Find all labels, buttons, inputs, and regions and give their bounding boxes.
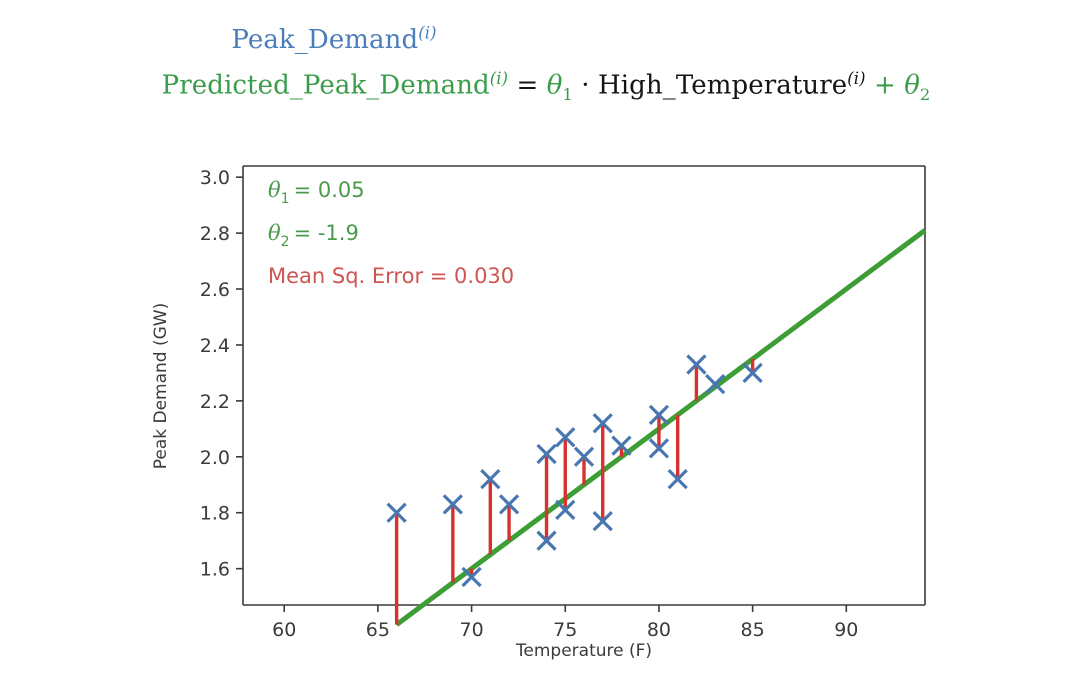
mse-annotation: Mean Sq. Error = 0.030 <box>268 264 514 288</box>
peak-demand-superscript: (i) <box>418 23 436 42</box>
x-axis-label: Temperature (F) <box>515 641 652 661</box>
equation-line-main: Predicted_Peak_Demand(i) = θ1 · High_Tem… <box>0 59 1092 115</box>
theta2-annotation: θ2= -1.9 <box>268 221 359 250</box>
regression-line-group <box>397 230 925 624</box>
y-tick-label: 1.8 <box>200 503 230 525</box>
theta2-subscript: 2 <box>920 85 930 104</box>
x-tick-label: 80 <box>647 619 671 641</box>
y-tick-label: 2.4 <box>200 335 230 357</box>
parameter-annotations: θ1= 0.05 θ2= -1.9 Mean Sq. Error = 0.030 <box>268 178 514 288</box>
predicted-peak-demand-term: Predicted_Peak_Demand <box>162 70 490 100</box>
data-point-markers-group <box>388 356 762 587</box>
equation-line-numerator: Peak_Demand(i) <box>0 14 1092 59</box>
scatter-regression-chart: 1.61.82.02.22.42.62.83.0 60657075808590 … <box>0 130 1092 684</box>
figure-root: Peak_Demand(i) Predicted_Peak_Demand(i) … <box>0 0 1092 684</box>
title-equation: Peak_Demand(i) Predicted_Peak_Demand(i) … <box>0 14 1092 115</box>
y-tick-label: 2.6 <box>200 279 230 301</box>
y-tick-label: 2.0 <box>200 447 230 469</box>
chart-plot-area: 1.61.82.02.22.42.62.83.0 60657075808590 … <box>0 130 1092 684</box>
y-tick-label: 2.2 <box>200 391 230 413</box>
x-tick-label: 75 <box>553 619 577 641</box>
equals-sign: = <box>516 70 538 100</box>
x-tick-label: 70 <box>459 619 483 641</box>
multiplication-dot: · <box>581 70 589 100</box>
theta2-annot-value: = -1.9 <box>294 221 359 245</box>
x-tick-label: 85 <box>741 619 765 641</box>
y-axis-ticks: 1.61.82.02.22.42.62.83.0 <box>200 167 243 580</box>
x-axis-ticks: 60657075808590 <box>272 605 858 641</box>
theta1-symbol: θ <box>547 70 563 100</box>
x-tick-label: 90 <box>834 619 858 641</box>
theta1-annot-value: = 0.05 <box>294 178 365 202</box>
theta2-annot-subscript: 2 <box>281 234 290 250</box>
theta2-annot-symbol: θ <box>268 221 281 245</box>
peak-demand-term: Peak_Demand <box>231 25 418 55</box>
theta1-subscript: 1 <box>563 85 573 104</box>
y-tick-label: 3.0 <box>200 167 230 189</box>
theta1-annot-symbol: θ <box>268 178 281 202</box>
high-temperature-superscript: (i) <box>847 69 865 88</box>
predicted-peak-demand-superscript: (i) <box>490 69 508 88</box>
theta1-annotation: θ1= 0.05 <box>268 178 365 207</box>
x-tick-label: 60 <box>272 619 296 641</box>
plus-sign: + <box>874 70 896 100</box>
y-tick-label: 2.8 <box>200 223 230 245</box>
y-axis-label: Peak Demand (GW) <box>151 303 171 470</box>
y-tick-label: 1.6 <box>200 559 230 581</box>
regression-fit-line <box>397 230 925 624</box>
theta2-symbol: θ <box>904 70 920 100</box>
theta1-annot-subscript: 1 <box>281 191 290 207</box>
high-temperature-term: High_Temperature <box>598 70 847 100</box>
x-tick-label: 65 <box>366 619 390 641</box>
